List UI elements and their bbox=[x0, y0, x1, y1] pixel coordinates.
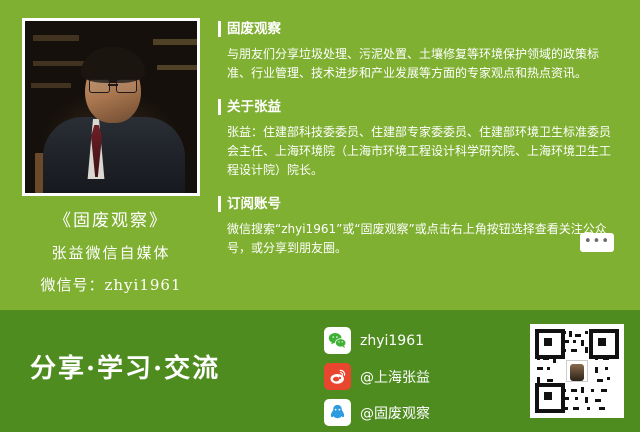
block-heading: 固废观察 bbox=[218, 20, 622, 38]
footer-slogan: 分享·学习·交流 bbox=[30, 348, 220, 385]
promo-card: 《固废观察》 张益微信自媒体 微信号：zhyi1961 固废观察 与朋友们分享垃… bbox=[0, 0, 640, 432]
qr-eye bbox=[535, 329, 565, 359]
block-body: 与朋友们分享垃圾处理、污泥处置、土壤修复等环境保护领域的政策标准、行业管理、技术… bbox=[218, 45, 622, 83]
wechat-icon bbox=[324, 327, 351, 354]
footer-bar: 分享·学习·交流 zhyi1961 bbox=[0, 310, 640, 432]
qr-eye bbox=[535, 383, 565, 413]
bookshelf-detail bbox=[33, 61, 85, 66]
person-hair bbox=[81, 47, 145, 83]
social-item-weibo[interactable]: @上海张益 bbox=[324, 360, 504, 393]
info-blocks: 固废观察 与朋友们分享垃圾处理、污泥处置、土壤修复等环境保护领域的政策标准、行业… bbox=[218, 20, 622, 273]
social-list: zhyi1961 @上海张益 bbox=[324, 324, 504, 432]
portrait-image bbox=[25, 21, 197, 193]
wechat-qr-code[interactable] bbox=[530, 324, 624, 418]
info-block: 关于张益 张益：住建部科技委委员、住建部专家委委员、住建部环境卫生标准委员会主任… bbox=[218, 98, 622, 180]
block-body: 微信搜索“zhyi1961”或“固废观察”或点击右上角按钮选择查看关注公众号，或… bbox=[218, 220, 622, 258]
wechat-id-line: 微信号：zhyi1961 bbox=[8, 274, 214, 295]
social-label-wechat: zhyi1961 bbox=[360, 333, 424, 349]
account-title: 《固废观察》 bbox=[8, 206, 214, 231]
social-label-weibo: @上海张益 bbox=[360, 367, 430, 387]
social-item-qq[interactable]: @固废观察 bbox=[324, 396, 504, 429]
block-heading: 订阅账号 bbox=[218, 195, 622, 213]
block-heading: 关于张益 bbox=[218, 98, 622, 116]
more-options-button[interactable]: ••• bbox=[580, 233, 614, 252]
block-body: 张益：住建部科技委委员、住建部专家委委员、住建部环境卫生标准委员会主任、上海环境… bbox=[218, 123, 622, 180]
weibo-icon bbox=[324, 363, 351, 390]
glasses-icon bbox=[89, 79, 137, 91]
bookshelf-detail bbox=[157, 65, 197, 70]
portrait-photo bbox=[22, 18, 200, 196]
social-label-qq: @固废观察 bbox=[360, 403, 430, 423]
account-subtitle: 张益微信自媒体 bbox=[8, 242, 214, 263]
person-body bbox=[43, 117, 185, 196]
social-item-wechat[interactable]: zhyi1961 bbox=[324, 324, 504, 357]
qr-eye bbox=[589, 329, 619, 359]
info-block: 固废观察 与朋友们分享垃圾处理、污泥处置、土壤修复等环境保护领域的政策标准、行业… bbox=[218, 20, 622, 83]
qq-icon bbox=[324, 399, 351, 426]
top-section: 《固废观察》 张益微信自媒体 微信号：zhyi1961 固废观察 与朋友们分享垃… bbox=[0, 0, 640, 310]
bookshelf-detail bbox=[153, 39, 197, 45]
bookshelf-detail bbox=[31, 83, 71, 88]
info-block: 订阅账号 微信搜索“zhyi1961”或“固废观察”或点击右上角按钮选择查看关注… bbox=[218, 195, 622, 258]
bookshelf-detail bbox=[33, 35, 79, 41]
qr-avatar bbox=[566, 360, 588, 382]
photo-caption: 《固废观察》 张益微信自媒体 微信号：zhyi1961 bbox=[8, 206, 214, 295]
